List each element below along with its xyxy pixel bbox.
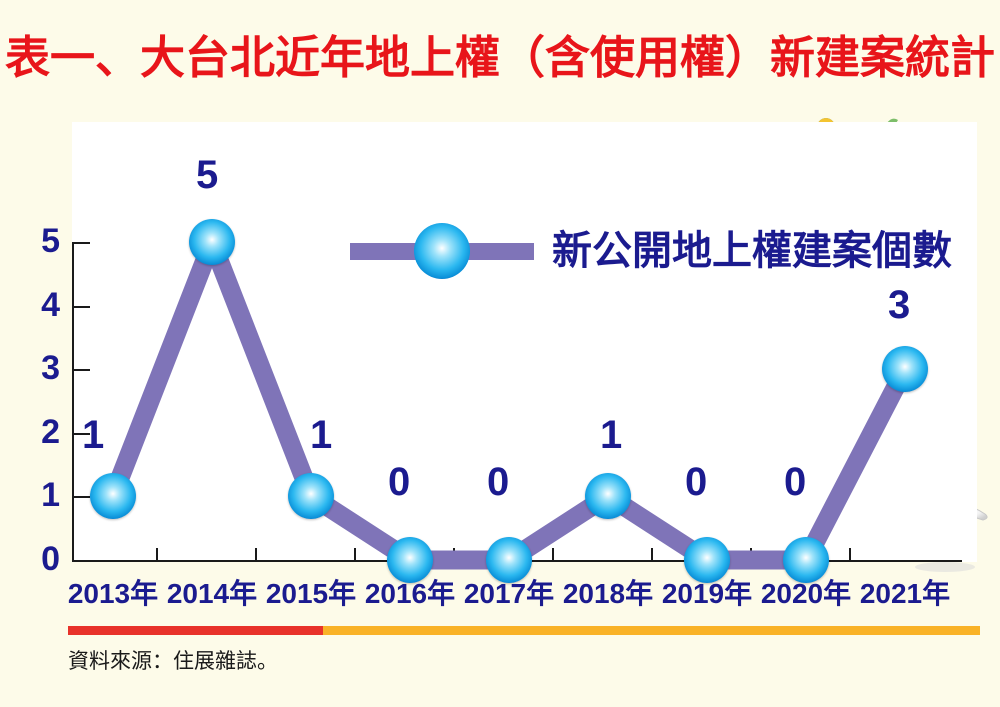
data-label-2019: 0 [685,462,707,502]
data-label-2017: 0 [487,462,509,502]
data-point-2017[interactable] [486,537,532,583]
legend-marker-icon [414,223,470,279]
legend: 新公開地上權建案個數 [350,222,952,280]
data-label-2021: 3 [888,285,910,325]
x-axis-label-2019: 2019年 [652,578,762,610]
page-title: 表一、大台北近年地上權（含使用權）新建案統計 [0,30,1000,86]
y-tick-1 [72,496,90,498]
x-axis-label-2015: 2015年 [256,578,366,610]
x-tick-3 [354,548,356,561]
y-tick-3 [72,369,90,371]
x-axis-label-2020: 2020年 [751,578,861,610]
data-label-2020: 0 [784,462,806,502]
x-axis-label-2021: 2021年 [850,578,960,610]
legend-line-right [464,243,534,260]
divider-bar-gold-segment [323,626,980,635]
data-point-2013[interactable] [90,473,136,519]
legend-line-left [350,243,420,260]
x-axis-label-2013: 2013年 [58,578,168,610]
x-tick-2 [255,548,257,561]
y-tick-label-0: 0 [12,542,60,576]
legend-label: 新公開地上權建案個數 [552,229,952,273]
y-axis-line [72,242,74,562]
x-axis-label-2017: 2017年 [454,578,564,610]
data-point-2014[interactable] [189,219,235,265]
y-tick-5 [72,242,90,244]
data-point-2015[interactable] [288,473,334,519]
y-tick-label-3: 3 [12,351,60,385]
x-axis-label-2016: 2016年 [355,578,465,610]
data-point-2020[interactable] [783,537,829,583]
data-label-2013: 1 [82,415,104,455]
x-tick-8 [849,548,851,561]
y-tick-4 [72,306,90,308]
x-tick-7 [750,548,752,561]
x-tick-6 [651,548,653,561]
x-tick-1 [156,548,158,561]
data-label-2016: 0 [388,462,410,502]
y-tick-label-5: 5 [12,224,60,258]
x-axis-label-2018: 2018年 [553,578,663,610]
y-tick-label-2: 2 [12,415,60,449]
y-tick-label-4: 4 [12,288,60,322]
data-point-2016[interactable] [387,537,433,583]
data-label-2018: 1 [600,415,622,455]
y-tick-label-1: 1 [12,478,60,512]
x-axis-label-2014: 2014年 [157,578,267,610]
data-point-2021[interactable] [882,346,928,392]
x-tick-4 [453,548,455,561]
data-point-2019[interactable] [684,537,730,583]
data-point-2018[interactable] [585,473,631,519]
x-tick-5 [552,548,554,561]
data-label-2014: 5 [196,155,218,195]
divider-bar-red-segment [68,626,323,635]
source-note: 資料來源：住展雜誌。 [68,648,278,676]
data-label-2015: 1 [310,415,332,455]
divider-bar [68,626,980,635]
